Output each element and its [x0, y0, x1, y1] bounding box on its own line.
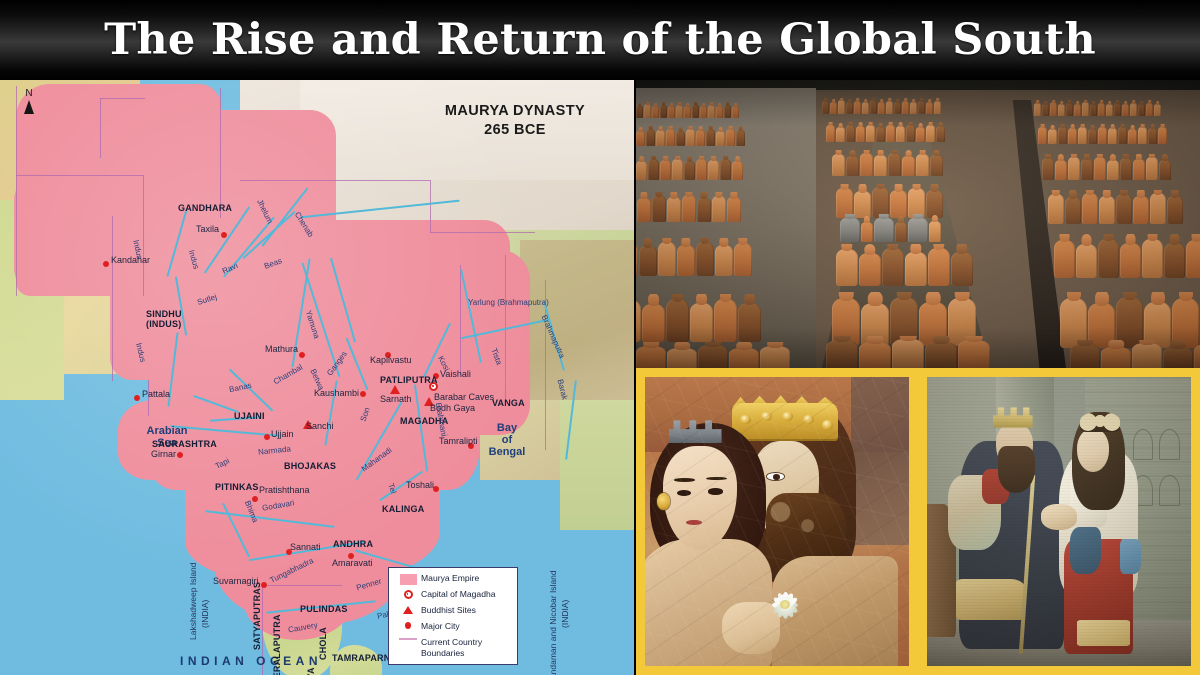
- city-label-sannati: Sannati: [290, 542, 321, 552]
- legend-label-capital: Capital of Magadha: [421, 589, 496, 600]
- warrior-row: [636, 294, 768, 342]
- city-marker: [103, 261, 109, 267]
- city-marker: [221, 232, 227, 238]
- city-label-tamralipti: Tamralipti: [439, 436, 478, 446]
- warrior-row: [636, 102, 778, 118]
- legend-label-boundary: Current Country Boundaries: [421, 637, 511, 658]
- page-title: The Rise and Return of the Global South: [0, 15, 1200, 65]
- city-label-taxila: Taxila: [196, 224, 219, 234]
- boundary-line: [16, 86, 17, 296]
- north-arrow-icon: N: [18, 88, 40, 122]
- region-label-pitinkas: PITINKAS: [215, 482, 259, 492]
- persian-artwork-canvas: [645, 377, 909, 666]
- boundary-line: [240, 180, 430, 181]
- legend-label-city: Major City: [421, 621, 460, 632]
- sea-label-bengal-line3: Bengal: [472, 446, 542, 458]
- warrior-row: [836, 184, 991, 218]
- region-label-keralaputra: KERALAPUTRA: [272, 614, 282, 675]
- north-arrow-triangle: [24, 100, 34, 114]
- warrior-row: [1048, 190, 1200, 224]
- maurya-dynasty-map: N MAURYA DYNASTY 265 BCE Arabian Sea Bay…: [0, 80, 634, 675]
- legend-label-empire: Maurya Empire: [421, 573, 479, 584]
- fresco-right-column: [851, 377, 909, 545]
- legend-label-buddhist: Buddhist Sites: [421, 605, 476, 616]
- city-label-kapilvastu: Kapilvastu: [370, 355, 412, 365]
- warrior-row: [836, 244, 991, 286]
- city-label-girnar: Girnar: [151, 449, 176, 459]
- map-title: MAURYA DYNASTY 265 BCE: [400, 102, 630, 140]
- legend-row-city: Major City: [395, 621, 511, 633]
- wall-ornament: [1133, 429, 1153, 460]
- wall-ornament: [1159, 475, 1179, 506]
- city-label-mathura: Mathura: [265, 344, 298, 354]
- island-label-lakshadweep: Lakshadweep Island: [188, 562, 198, 640]
- warrior-row: [1042, 154, 1200, 180]
- city-label-pratishthana: Pratishthana: [259, 485, 310, 495]
- woman-skirt-trim: [1077, 620, 1130, 646]
- boundary-line: [100, 98, 145, 99]
- pink-line-icon: [395, 637, 421, 640]
- king-robe-gold-trim: [956, 579, 1025, 619]
- region-label-pandya: PANDYA: [306, 667, 316, 675]
- city-label-kandahar: Kandahar: [111, 255, 150, 265]
- map-legend: Maurya Empire Capital of Magadha Buddhis…: [388, 567, 518, 665]
- slide-canvas: The Rise and Return of the Global South: [0, 0, 1200, 675]
- warrior-row: [826, 336, 996, 368]
- buddhist-site-marker: [390, 385, 400, 394]
- persian-fresco-painting: [636, 368, 918, 675]
- woman-headdress: [1080, 412, 1120, 432]
- river-label-yarlung: Yarlung (Brahmaputra): [468, 298, 549, 307]
- sea-label-arabian-line1: Arabian: [132, 425, 202, 437]
- sea-label-bengal-line2: of: [472, 434, 542, 446]
- city-marker: [134, 395, 140, 401]
- slide-title-bar: The Rise and Return of the Global South: [0, 0, 1200, 80]
- city-label-amaravati: Amaravati: [332, 558, 373, 568]
- region-label-gandhara: GANDHARA: [178, 203, 232, 213]
- warrior-row: [1034, 100, 1200, 116]
- region-label-bhojakas: BHOJAKAS: [284, 461, 336, 471]
- sea-label-bengal: Bay of Bengal: [472, 422, 542, 458]
- region-label-saurashtra: SAURASHTRA: [152, 439, 217, 449]
- city-label-pattala: Pattala: [142, 389, 170, 399]
- legend-row-capital: Capital of Magadha: [395, 589, 511, 601]
- warrior-row: [1054, 234, 1200, 278]
- city-marker: [261, 582, 267, 588]
- region-label-chola: CHOLA: [318, 627, 328, 660]
- site-label-sanchi: Sanchi: [306, 421, 334, 431]
- boundary-line: [430, 232, 535, 233]
- warrior-row: [636, 156, 774, 180]
- woman-blue-sash: [1070, 527, 1102, 573]
- warrior-row: [826, 122, 991, 142]
- city-marker: [264, 434, 270, 440]
- north-arrow-label: N: [18, 88, 40, 99]
- warrior-row: [1038, 124, 1200, 144]
- boundary-line: [100, 98, 101, 158]
- map-title-line1: MAURYA DYNASTY: [400, 102, 630, 121]
- city-label-suvarnagiri: Suvarnagiri: [213, 576, 259, 586]
- horse-statue-row: [840, 214, 990, 242]
- island-label-lakshadweep-country: (INDIA): [200, 600, 210, 628]
- legend-row-empire: Maurya Empire: [395, 573, 511, 585]
- woman-eye: [708, 488, 723, 494]
- warrior-row: [636, 238, 770, 276]
- legend-row-boundary: Current Country Boundaries: [395, 637, 511, 658]
- boundary-line: [143, 176, 144, 296]
- woman-blue-drape: [1120, 539, 1141, 574]
- warrior-row: [636, 126, 786, 146]
- woman-eye: [677, 490, 692, 496]
- region-label-satyaputras: SATYAPUTRAS: [252, 582, 262, 650]
- victorian-king-illustration: [918, 368, 1200, 675]
- boundary-line: [112, 216, 113, 381]
- capital-circle-icon: [395, 589, 421, 599]
- woman-earring: [657, 493, 670, 510]
- warrior-row: [832, 150, 992, 176]
- boundary-line: [460, 265, 461, 375]
- boundary-line: [430, 180, 431, 232]
- region-label-sindhu-alt: (INDUS): [146, 319, 181, 329]
- city-label-toshali: Toshali: [406, 480, 434, 490]
- city-marker: [252, 496, 258, 502]
- warrior-row: [1070, 340, 1200, 368]
- city-marker: [177, 452, 183, 458]
- ocean-label-indian: INDIAN OCEAN: [180, 654, 322, 668]
- city-marker: [299, 352, 305, 358]
- king-pupil: [773, 474, 779, 479]
- map-title-line2: 265 BCE: [400, 121, 630, 140]
- capital-label-patliputra: PATLIPUTRA: [380, 375, 438, 385]
- map-canvas: N MAURYA DYNASTY 265 BCE Arabian Sea Bay…: [0, 80, 634, 675]
- red-triangle-icon: [395, 605, 421, 614]
- region-label-ujaini: UJAINI: [234, 411, 265, 421]
- boundary-line: [16, 175, 144, 176]
- wall-ornament: [1159, 429, 1179, 460]
- boundary-line: [262, 585, 342, 586]
- region-label-sindhu: SINDHU: [146, 309, 182, 319]
- woman-brow: [674, 478, 695, 482]
- city-label-ujjain: Ujjain: [271, 429, 294, 439]
- red-dot-icon: [395, 621, 421, 629]
- island-label-andaman: Andaman and Nicobar Island: [548, 570, 558, 675]
- king-crown: [993, 407, 1033, 427]
- warrior-row: [636, 192, 772, 222]
- region-label-vanga: VANGA: [492, 398, 525, 408]
- victorian-artwork-canvas: [927, 377, 1191, 666]
- pink-swatch-icon: [395, 573, 421, 585]
- city-marker: [360, 391, 366, 397]
- legend-row-buddhist: Buddhist Sites: [395, 605, 511, 617]
- terracotta-army-photo: [636, 80, 1200, 368]
- site-label-sarnath: Sarnath: [380, 394, 412, 404]
- island-label-andaman-country: (INDIA): [560, 600, 570, 628]
- boundary-line: [220, 88, 221, 218]
- region-label-andhra: ANDHRA: [333, 539, 373, 549]
- region-label-kalinga: KALINGA: [382, 504, 424, 514]
- region-label-pulindas: PULINDAS: [300, 604, 348, 614]
- warrior-row: [822, 98, 992, 114]
- sea-label-bengal-line1: Bay: [472, 422, 542, 434]
- joined-hands: [1041, 504, 1078, 530]
- lotus-flower: [756, 579, 814, 631]
- warrior-row: [636, 342, 816, 368]
- region-label-tamraparni: TAMRAPARNI: [332, 653, 393, 663]
- site-label-barabar: Barabar Caves: [434, 392, 494, 402]
